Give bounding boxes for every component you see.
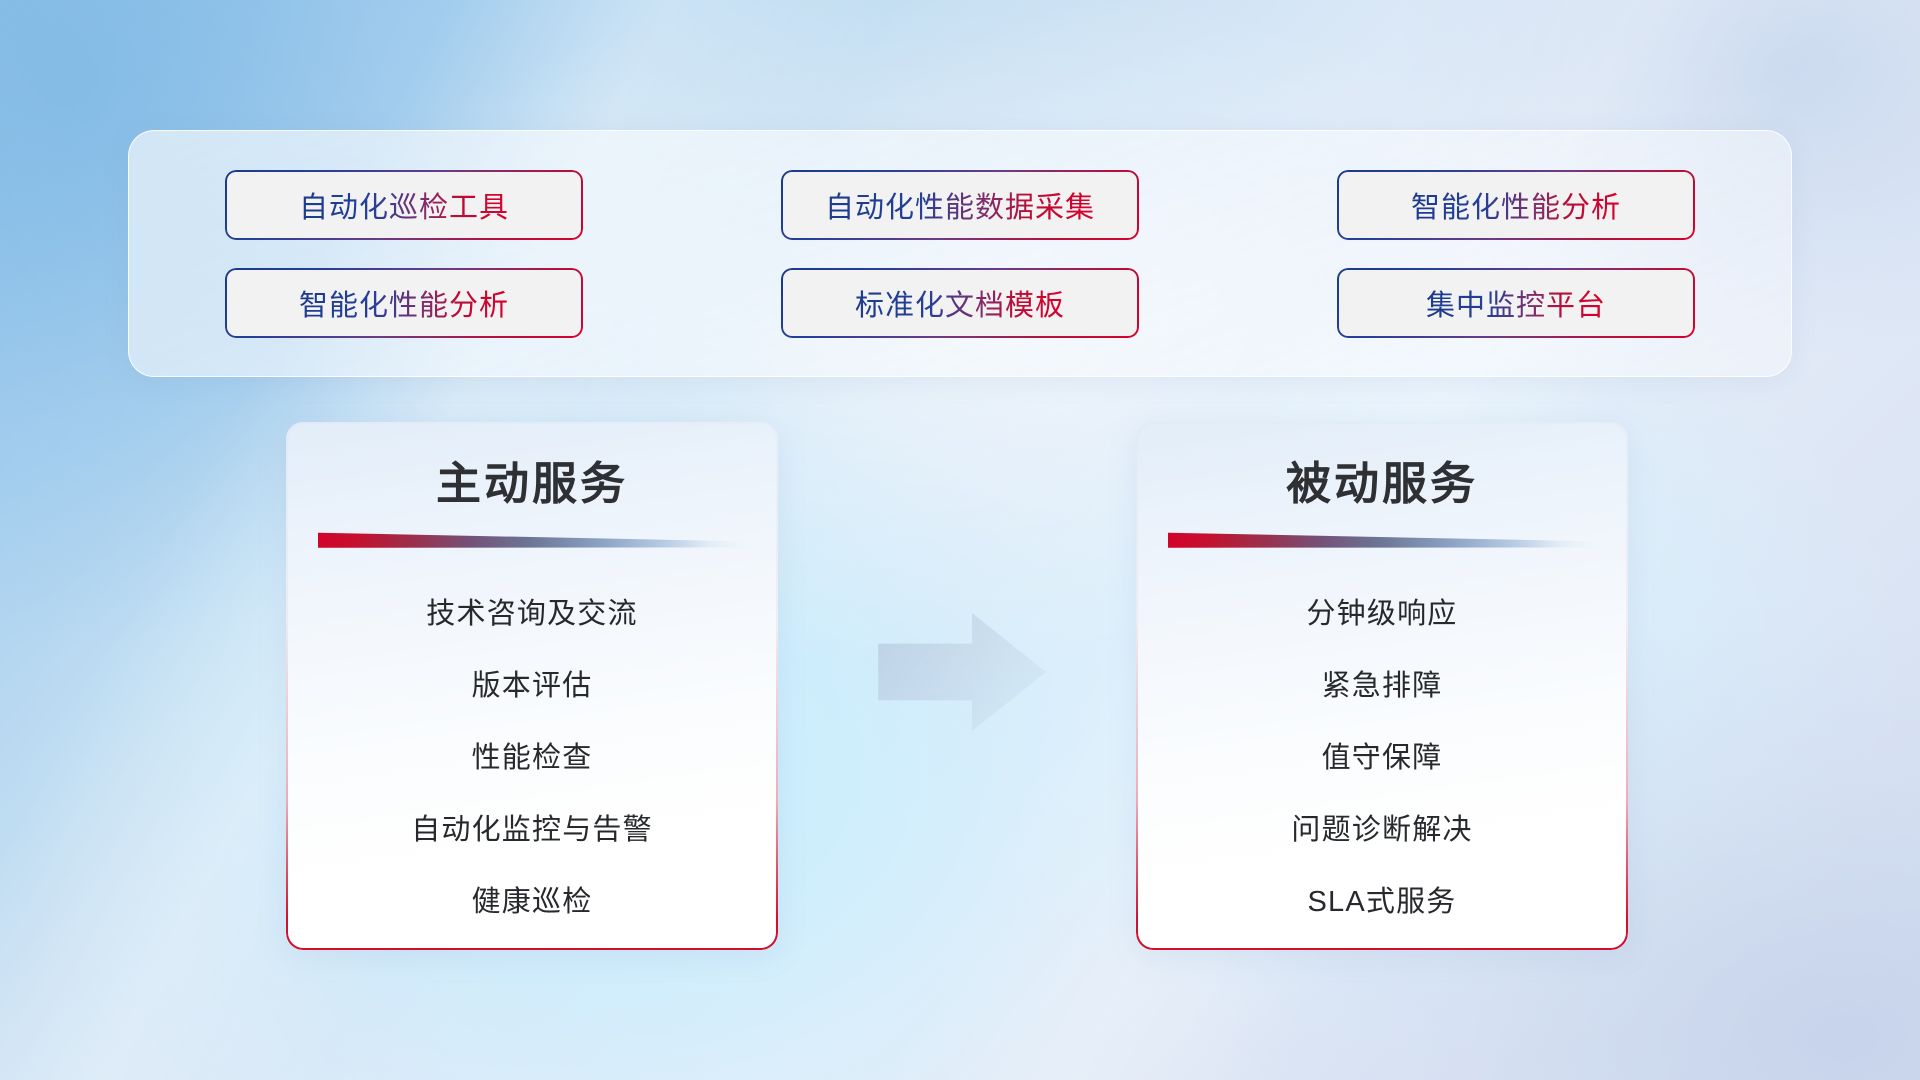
capability-pill-label: 智能化性能分析 (299, 282, 509, 324)
list-item: 紧急排障 (1322, 650, 1443, 722)
list-item: 值守保障 (1322, 722, 1443, 794)
capability-pill[interactable]: 标准化文档模板 (781, 268, 1139, 338)
capability-pill-label: 智能化性能分析 (1411, 184, 1621, 226)
service-card-reactive: 被动服务 分钟级响应 紧急排障 值守保障 问题诊断解决 SLA式服务 (1136, 422, 1628, 950)
list-item: 分钟级响应 (1306, 578, 1457, 650)
capability-pill[interactable]: 智能化性能分析 (225, 268, 583, 338)
capability-pill[interactable]: 自动化性能数据采集 (781, 170, 1139, 240)
capability-pill-label: 自动化巡检工具 (299, 184, 509, 226)
capability-pill-label: 集中监控平台 (1426, 282, 1606, 324)
capabilities-panel: 自动化巡检工具 自动化性能数据采集 智能化性能分析 智能化性能分析 标准化文档模… (128, 130, 1792, 377)
card-divider (1168, 532, 1596, 548)
list-item: 问题诊断解决 (1291, 794, 1472, 866)
card-divider (318, 532, 746, 548)
capabilities-row-1: 自动化巡检工具 自动化性能数据采集 智能化性能分析 (225, 170, 1695, 240)
list-item: 技术咨询及交流 (426, 578, 637, 650)
list-item: 自动化监控与告警 (411, 794, 653, 866)
list-item: SLA式服务 (1307, 866, 1456, 938)
list-item: 健康巡检 (472, 866, 593, 938)
service-card-proactive: 主动服务 技术咨询及交流 版本评估 性能检查 自动化监控与告警 健康巡检 (286, 422, 778, 950)
service-card-title: 被动服务 (1286, 458, 1478, 510)
list-item: 版本评估 (472, 650, 593, 722)
service-card-list: 技术咨询及交流 版本评估 性能检查 自动化监控与告警 健康巡检 (286, 578, 778, 938)
service-card-list: 分钟级响应 紧急排障 值守保障 问题诊断解决 SLA式服务 (1136, 578, 1628, 938)
capability-pill[interactable]: 智能化性能分析 (1337, 170, 1695, 240)
capabilities-row-2: 智能化性能分析 标准化文档模板 集中监控平台 (225, 268, 1695, 338)
capability-pill[interactable]: 自动化巡检工具 (225, 170, 583, 240)
list-item: 性能检查 (472, 722, 593, 794)
capability-pill-label: 标准化文档模板 (855, 282, 1065, 324)
capability-pill-label: 自动化性能数据采集 (825, 184, 1095, 226)
service-card-title: 主动服务 (436, 458, 628, 510)
capability-pill[interactable]: 集中监控平台 (1337, 268, 1695, 338)
